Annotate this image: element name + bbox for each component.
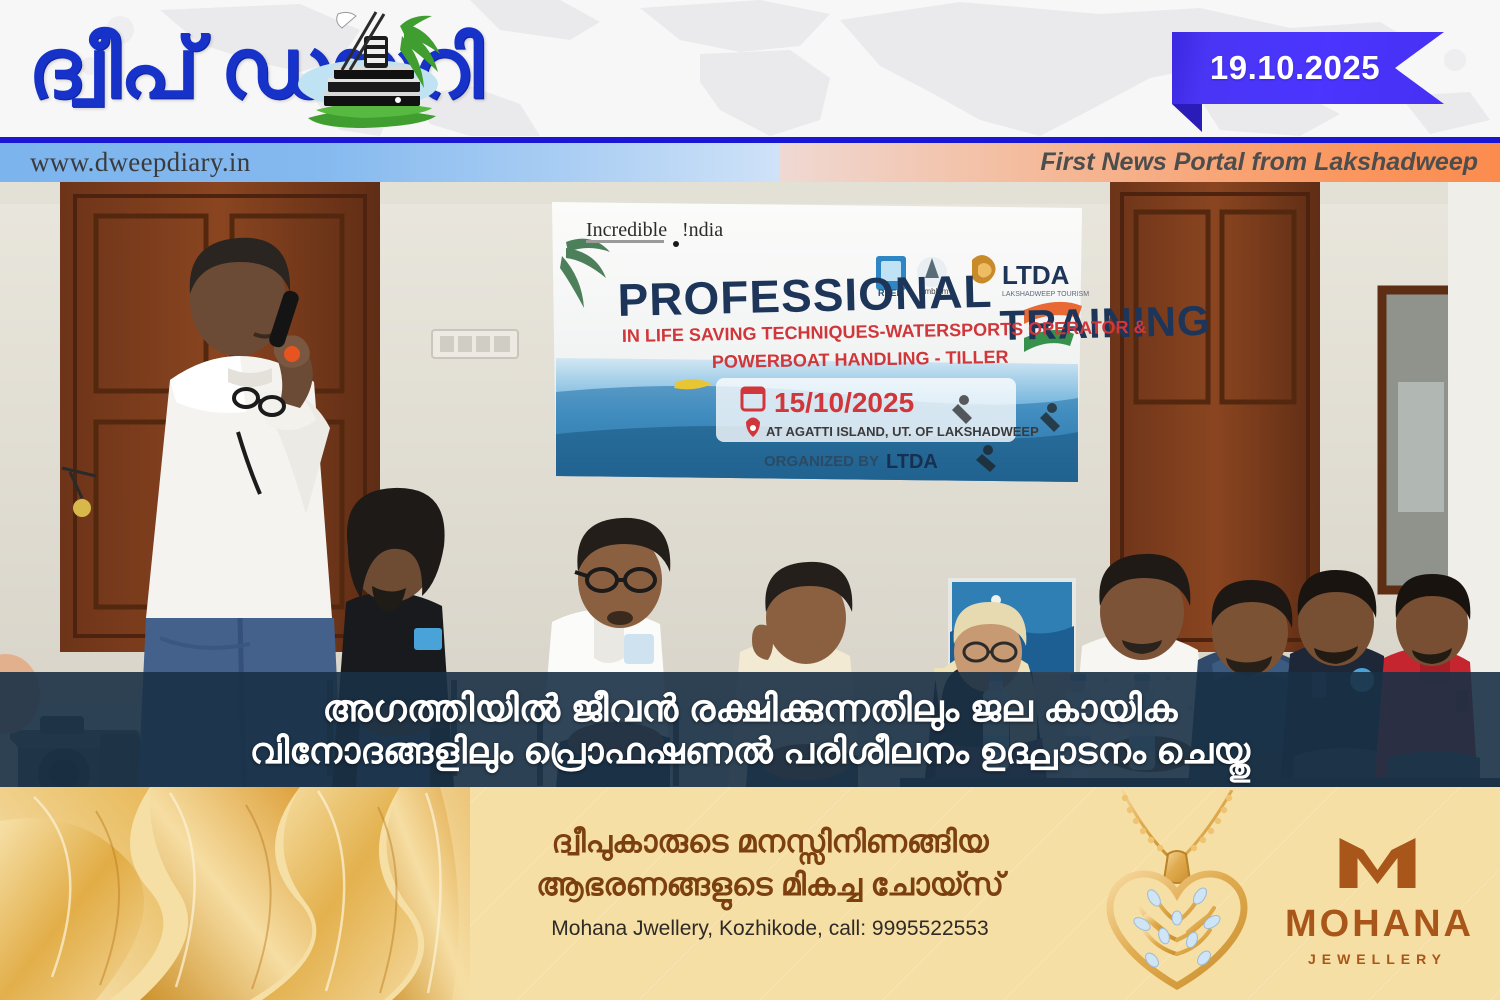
svg-text:LTDA: LTDA (1002, 260, 1070, 290)
ad-malayalam-line-2: ആഭരണങ്ങളുടെ മികച്ച ചോയ്സ് (470, 864, 1070, 907)
ad-contact-line: Mohana Jwellery, Kozhikode, call: 999552… (470, 917, 1070, 941)
svg-text:LTDA: LTDA (886, 451, 938, 473)
mohana-brand-tagline: JEWELLERY (1285, 951, 1470, 967)
gold-silk-fabric-drape (0, 787, 470, 1000)
date-badge-text: 19.10.2025 (1172, 32, 1444, 104)
svg-text:PROFESSIONAL: PROFESSIONAL (617, 265, 993, 326)
site-logo[interactable]: ദ്വീപ് ഡയറി (28, 8, 688, 130)
svg-text:ORGANIZED BY: ORGANIZED BY (764, 453, 879, 470)
mohana-m-mark (1285, 836, 1470, 896)
svg-text:!ndia: !ndia (682, 219, 723, 241)
svg-text:Incredible: Incredible (586, 219, 667, 241)
tagline-bar: www.dweepdiary.in First News Portal from… (0, 143, 1500, 182)
ad-malayalam-line-1: ദ്വീപുകാരുടെ മനസ്സിനിണങ്ങിയ (470, 821, 1070, 864)
headline-overlay: അഗത്തിയിൽ ജീവൻ രക്ഷിക്കുന്നതിലും ജല കായി… (0, 672, 1500, 787)
mohana-jewellery-logo[interactable]: MOHANA JEWELLERY (1285, 836, 1470, 964)
headline-line-2: വിനോദങ്ങളിലും പ്രൊഫഷണൽ പരിശീലനം ഉദ്ഘാടനം… (250, 731, 1251, 771)
heart-tree-of-life-gold-pendant (1082, 790, 1272, 1000)
svg-text:AT AGATTI ISLAND, UT. OF LAKSH: AT AGATTI ISLAND, UT. OF LAKSHADWEEP (766, 424, 1039, 439)
svg-text:15/10/2025: 15/10/2025 (774, 387, 914, 418)
ad-copy-block: ദ്വീപുകാരുടെ മനസ്സിനിണങ്ങിയ ആഭരണങ്ങളുടെ … (470, 821, 1070, 941)
mohana-brand-name: MOHANA (1285, 905, 1470, 943)
date-badge: 19.10.2025 (1172, 32, 1444, 104)
site-url[interactable]: www.dweepdiary.in (30, 143, 251, 182)
site-slogan: First News Portal from Lakshadweep (1040, 143, 1478, 182)
svg-text:LAKSHADWEEP TOURISM: LAKSHADWEEP TOURISM (1002, 291, 1089, 298)
advertisement-banner[interactable]: ദ്വീപുകാരുടെ മനസ്സിനിണങ്ങിയ ആഭരണങ്ങളുടെ … (0, 787, 1500, 1000)
headline-line-1: അഗത്തിയിൽ ജീവൻ രക്ഷിക്കുന്നതിലും ജല കായി… (322, 688, 1177, 729)
site-header: ദ്വീപ് ഡയറി (0, 0, 1500, 137)
news-card: ദ്വീപ് ഡയറി (0, 0, 1500, 1000)
books-quill-palm-logo-art (272, 10, 447, 130)
